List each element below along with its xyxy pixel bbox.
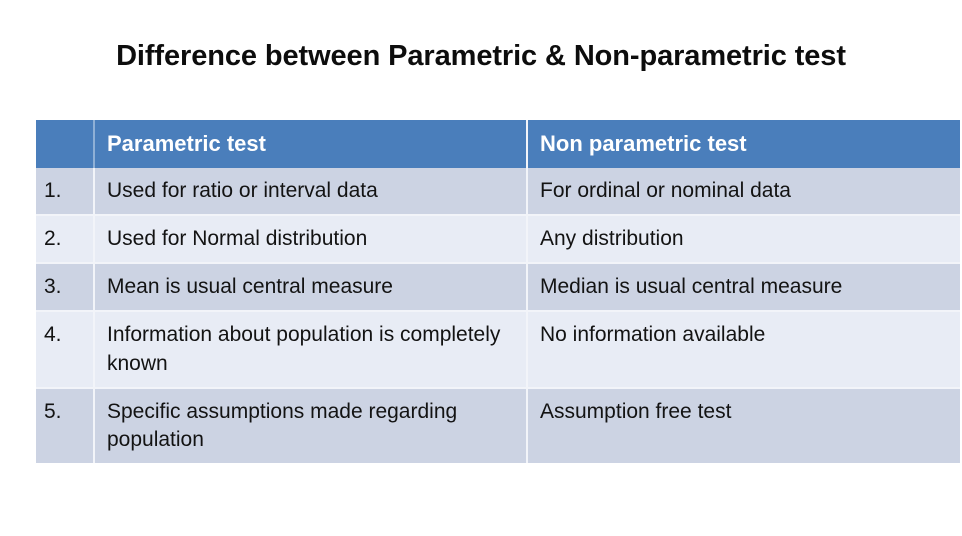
cell-parametric: Used for Normal distribution [94, 215, 527, 263]
table-row: 4. Information about population is compl… [36, 311, 960, 387]
cell-parametric: Mean is usual central measure [94, 263, 527, 311]
slide-canvas: Difference between Parametric & Non-para… [0, 0, 962, 536]
column-header-nonparametric: Non parametric test [527, 120, 960, 168]
table-row: 3. Mean is usual central measure Median … [36, 263, 960, 311]
cell-nonparametric: Median is usual central measure [527, 263, 960, 311]
column-header-parametric: Parametric test [94, 120, 527, 168]
page-title: Difference between Parametric & Non-para… [0, 40, 962, 73]
row-number: 5. [36, 388, 94, 463]
cell-parametric: Specific assumptions made regarding popu… [94, 388, 527, 463]
row-number: 4. [36, 311, 94, 387]
cell-parametric: Information about population is complete… [94, 311, 527, 387]
comparison-table: Parametric test Non parametric test 1. U… [36, 120, 960, 463]
cell-nonparametric: No information available [527, 311, 960, 387]
cell-parametric: Used for ratio or interval data [94, 168, 527, 215]
row-number: 1. [36, 168, 94, 215]
table-header-row: Parametric test Non parametric test [36, 120, 960, 168]
row-number: 2. [36, 215, 94, 263]
row-number: 3. [36, 263, 94, 311]
cell-nonparametric: For ordinal or nominal data [527, 168, 960, 215]
cell-nonparametric: Assumption free test [527, 388, 960, 463]
column-header-number [36, 120, 94, 168]
table-row: 5. Specific assumptions made regarding p… [36, 388, 960, 463]
table-row: 1. Used for ratio or interval data For o… [36, 168, 960, 215]
table-row: 2. Used for Normal distribution Any dist… [36, 215, 960, 263]
table-header: Parametric test Non parametric test [36, 120, 960, 168]
table-body: 1. Used for ratio or interval data For o… [36, 168, 960, 463]
cell-nonparametric: Any distribution [527, 215, 960, 263]
